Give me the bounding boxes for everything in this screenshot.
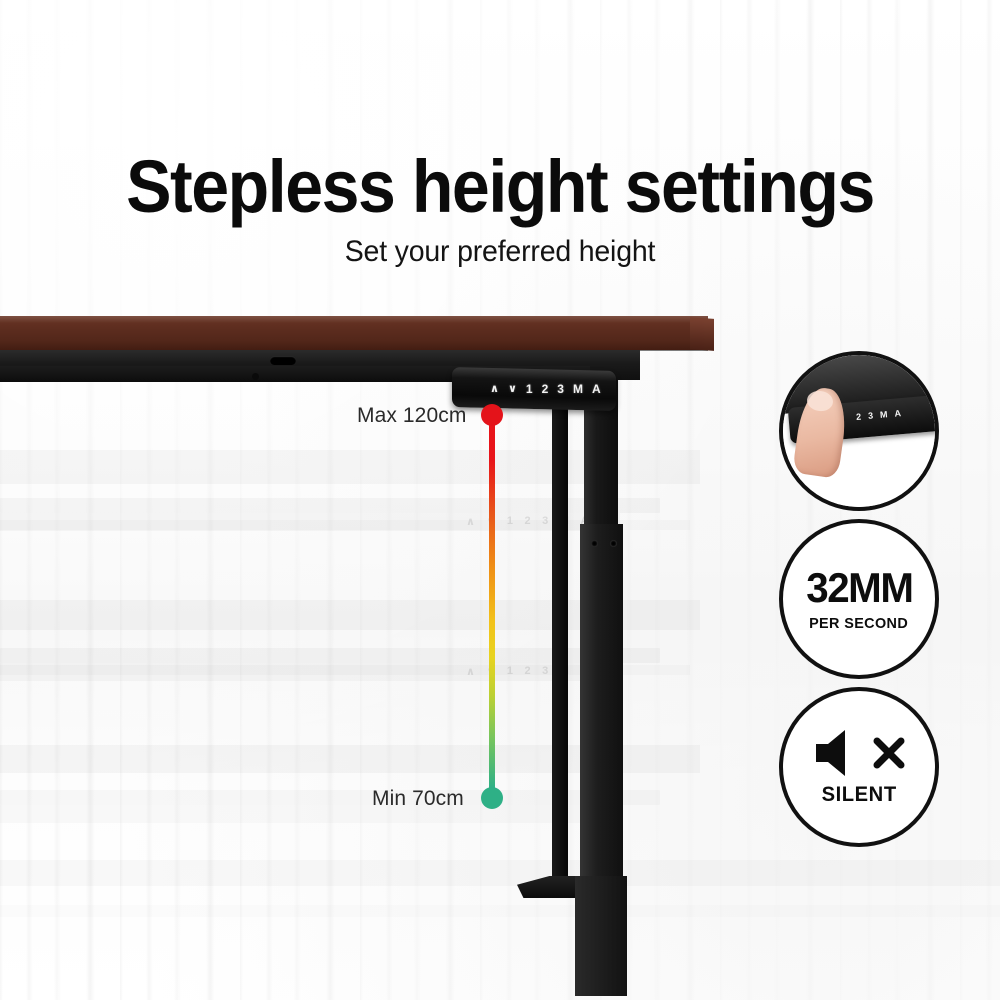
keypad-closeup-key: M — [880, 409, 888, 420]
keypad-memory-button[interactable]: M — [573, 383, 583, 395]
min-height-label: Min 70cm — [372, 787, 464, 811]
desk-tabletop — [0, 316, 708, 350]
close-x-icon — [872, 736, 906, 770]
desk-leg-lower-stage — [580, 524, 623, 894]
ghost-key: 2 — [525, 665, 532, 677]
keypad-closeup-key: 3 — [868, 410, 874, 420]
ghost-key: 1 — [507, 665, 514, 677]
desk-foot-front — [575, 876, 627, 996]
leg-bolt-icon — [591, 540, 598, 547]
keypad-up-icon[interactable]: ∧ — [490, 383, 499, 394]
ghost-keypad: ∧ ∨ 1 2 3 M A — [466, 664, 589, 678]
silent-label: SILENT — [821, 783, 896, 807]
speed-unit: PER SECOND — [809, 615, 908, 632]
background-band — [0, 905, 1000, 917]
mute-icon-group — [812, 727, 906, 779]
cable-management-slot — [270, 356, 296, 365]
desk-leg-inner-column — [552, 380, 568, 892]
background-band — [0, 860, 1000, 886]
speed-value: 32MM — [806, 567, 912, 609]
leg-bolt-icon — [610, 540, 617, 547]
badge-speed: 32MM PER SECOND — [779, 519, 939, 679]
page-headline: Stepless height settings — [40, 150, 960, 224]
keypad-preset-3[interactable]: 3 — [557, 383, 564, 395]
ghost-key: 2 — [525, 515, 532, 527]
ghost-keypad: ∧ ∨ 1 2 3 M A — [466, 514, 589, 528]
keypad-closeup-key: A — [894, 408, 901, 419]
ghost-key: ∧ — [466, 665, 475, 678]
desk-tabletop-edge — [690, 317, 714, 351]
desk-control-keypad[interactable]: ∧ ∨ 1 2 3 M A — [452, 367, 616, 411]
badge-touch-keypad: 2 3 M A — [779, 351, 939, 511]
keypad-auto-button[interactable]: A — [592, 383, 601, 395]
ghost-key: 3 — [542, 515, 549, 527]
product-feature-image: Stepless height settings Set your prefer… — [0, 0, 1000, 1000]
ghost-key: 1 — [507, 515, 514, 527]
keypad-closeup-illustration: 2 3 M A — [783, 355, 935, 507]
ghost-key: 3 — [542, 665, 549, 677]
max-height-marker-dot — [481, 404, 503, 426]
keypad-down-icon[interactable]: ∨ — [508, 383, 517, 394]
keypad-preset-1[interactable]: 1 — [526, 383, 533, 395]
ghost-key: ∧ — [466, 515, 475, 528]
keypad-preset-2[interactable]: 2 — [541, 383, 548, 395]
badge-silent: SILENT — [779, 687, 939, 847]
frame-screw — [252, 373, 259, 380]
max-height-label: Max 120cm — [357, 404, 466, 428]
page-subheadline: Set your preferred height — [25, 237, 975, 267]
keypad-closeup-key: 2 — [856, 411, 862, 421]
speaker-icon — [812, 727, 868, 779]
min-height-marker-dot — [481, 787, 503, 809]
height-range-gradient-bar — [489, 413, 495, 800]
